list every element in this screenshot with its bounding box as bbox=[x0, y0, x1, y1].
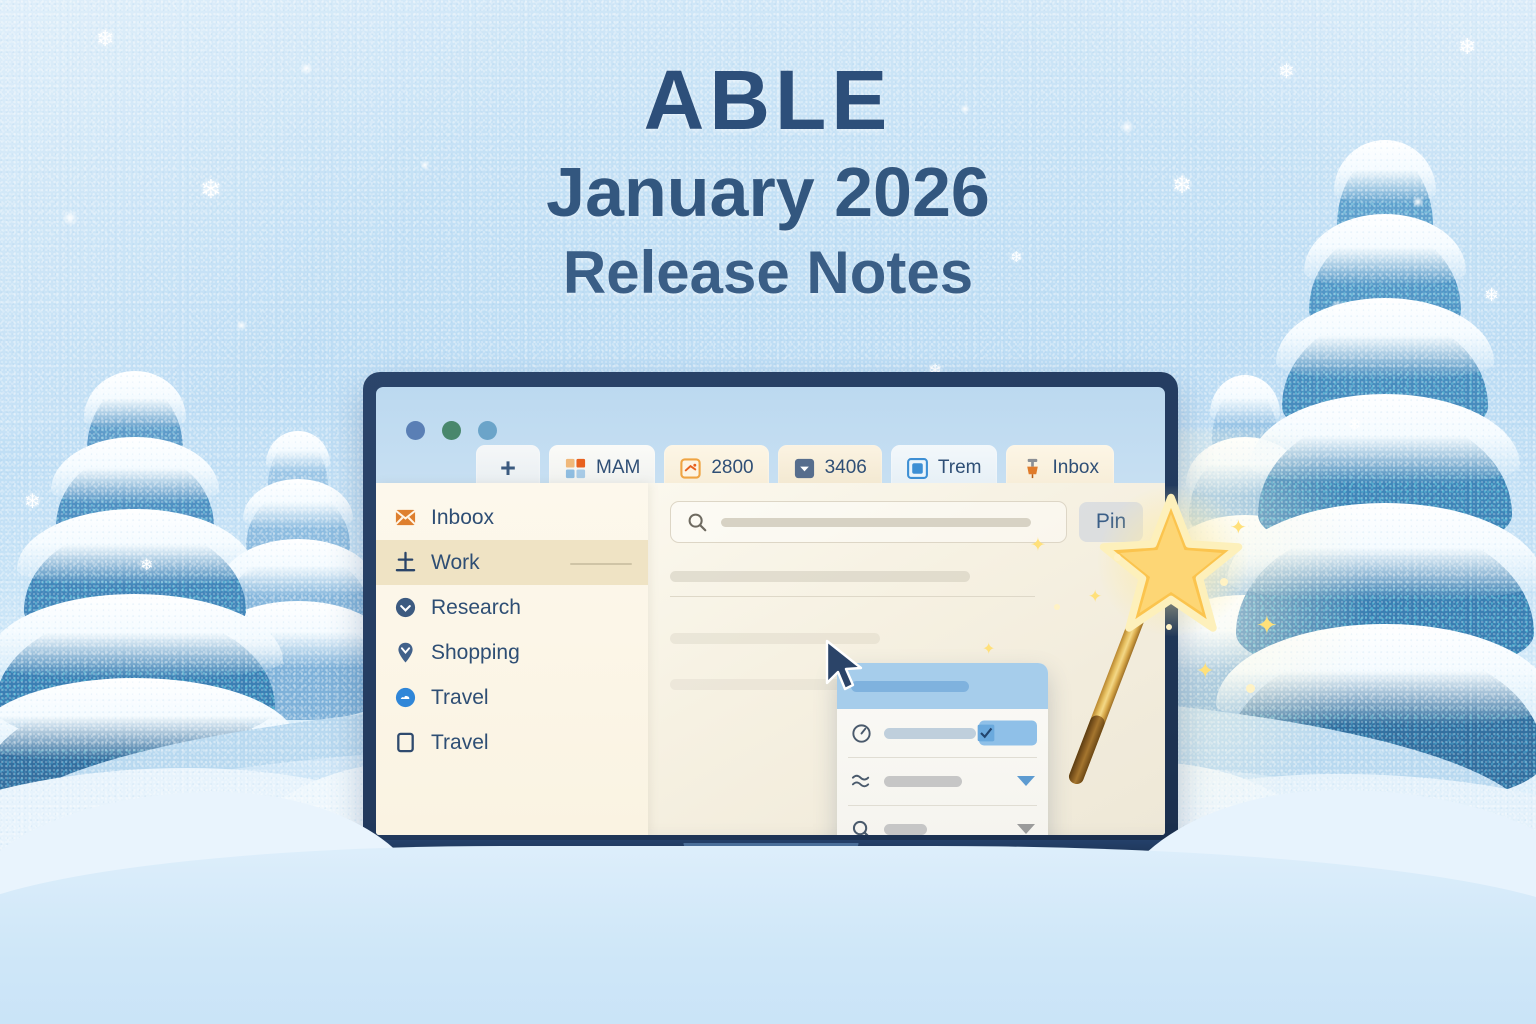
sparkle-dot bbox=[1166, 624, 1172, 630]
mouse-cursor-icon bbox=[823, 639, 871, 699]
search-icon bbox=[850, 818, 873, 836]
plus-icon: + bbox=[500, 455, 516, 482]
laptop-screen: + MAM bbox=[376, 387, 1165, 835]
window-controls bbox=[406, 421, 497, 440]
brand-title: ABLE bbox=[0, 58, 1536, 142]
sidebar-item-label: Shopping bbox=[431, 641, 520, 665]
checkbox-checked-icon[interactable] bbox=[976, 723, 996, 743]
sparkle-icon: ✦ bbox=[1230, 518, 1247, 538]
sparkle-dot bbox=[1114, 554, 1121, 561]
browser-tab-label: 3406 bbox=[825, 457, 867, 479]
sidebar-item-label: Work bbox=[431, 551, 480, 575]
sidebar-item-work[interactable]: Work bbox=[376, 540, 648, 585]
app-sidebar: Inboox Work bbox=[376, 483, 648, 835]
sparkle-icon: ✦ bbox=[1088, 588, 1102, 605]
browser-tab-label: 2800 bbox=[711, 457, 753, 479]
browser-tab-label: Inbox bbox=[1053, 457, 1099, 479]
star-icon bbox=[1096, 492, 1246, 638]
dropdown-row-bar bbox=[884, 776, 962, 787]
anchor-icon bbox=[394, 551, 417, 574]
pushpin-icon bbox=[1021, 457, 1044, 480]
snow-foreground-front bbox=[0, 846, 1536, 1024]
browser-tab-label: Trem bbox=[938, 457, 982, 479]
sidebar-item-label: Inboox bbox=[431, 506, 494, 530]
search-input[interactable] bbox=[670, 501, 1067, 543]
sidebar-item-divider bbox=[570, 563, 632, 565]
filter-icon bbox=[850, 770, 873, 793]
sidebar-item-inbox[interactable]: Inboox bbox=[376, 495, 648, 540]
sidebar-item-label: Research bbox=[431, 596, 521, 620]
dropdown-row-compass[interactable] bbox=[837, 709, 1048, 757]
snow-dot bbox=[236, 320, 247, 331]
sidebar-item-travel-square[interactable]: Travel bbox=[376, 720, 648, 765]
window-icon bbox=[906, 457, 929, 480]
sidebar-item-travel-cloud[interactable]: Travel bbox=[376, 675, 648, 720]
envelope-icon bbox=[394, 506, 417, 529]
release-month: January 2026 bbox=[0, 150, 1536, 235]
dropdown-row-bar bbox=[884, 728, 976, 739]
sidebar-item-shopping[interactable]: Shopping bbox=[376, 630, 648, 675]
browser-tab-label: MAM bbox=[596, 457, 640, 479]
compass-icon bbox=[850, 722, 873, 745]
sparkle-icon: ✦ bbox=[1256, 612, 1278, 638]
chevron-down-icon bbox=[793, 457, 816, 480]
dropdown-row-search[interactable] bbox=[837, 805, 1048, 835]
close-button[interactable] bbox=[406, 421, 425, 440]
snowflake-icon: ❄ bbox=[1458, 36, 1476, 58]
square-icon bbox=[394, 731, 417, 754]
note-icon bbox=[679, 457, 702, 480]
sidebar-item-label: Travel bbox=[431, 686, 489, 710]
cloud-icon bbox=[394, 686, 417, 709]
grid-squares-icon bbox=[564, 457, 587, 480]
sidebar-item-label: Travel bbox=[431, 731, 489, 755]
sparkle-dot bbox=[1054, 604, 1060, 610]
chevron-down-icon[interactable] bbox=[1017, 776, 1035, 786]
release-notes-subtitle: Release Notes bbox=[0, 237, 1536, 309]
poster-heading: ABLE January 2026 Release Notes bbox=[0, 58, 1536, 309]
search-input-value bbox=[721, 518, 1031, 527]
badge-icon bbox=[394, 596, 417, 619]
dropdown-row-filter[interactable] bbox=[837, 757, 1048, 805]
sparkle-icon: ✦ bbox=[1196, 660, 1214, 682]
sparkle-icon: ✦ bbox=[1030, 536, 1046, 555]
snowflake-icon: ❄ bbox=[24, 492, 41, 512]
snowflake-icon: ❄ bbox=[96, 28, 114, 50]
snowflake-icon: ❄ bbox=[140, 558, 153, 574]
minimize-button[interactable] bbox=[442, 421, 461, 440]
sparkle-dot bbox=[1220, 578, 1228, 586]
winter-scene: ❄ ❄ ❄ ❄ ❄ ❄ ❄ ❄ ❄ ❄ ❄ ❄ ABLE January 202… bbox=[0, 0, 1536, 1024]
sparkle-icon: ✦ bbox=[982, 642, 995, 658]
search-icon bbox=[686, 511, 708, 533]
dropdown-row-bar bbox=[884, 824, 927, 835]
sparkle-dot bbox=[1246, 684, 1255, 693]
content-placeholder-bar bbox=[670, 571, 970, 582]
content-divider bbox=[670, 596, 1035, 597]
sidebar-item-research[interactable]: Research bbox=[376, 585, 648, 630]
magic-wand: ✦ ✦ ✦ ✦ ✦ ✦ bbox=[1070, 492, 1285, 812]
maximize-button[interactable] bbox=[478, 421, 497, 440]
pin-icon bbox=[394, 641, 417, 664]
browser-viewport: Inboox Work bbox=[376, 483, 1165, 835]
chevron-down-icon[interactable] bbox=[1017, 824, 1035, 834]
browser-chrome: + MAM bbox=[376, 387, 1165, 483]
